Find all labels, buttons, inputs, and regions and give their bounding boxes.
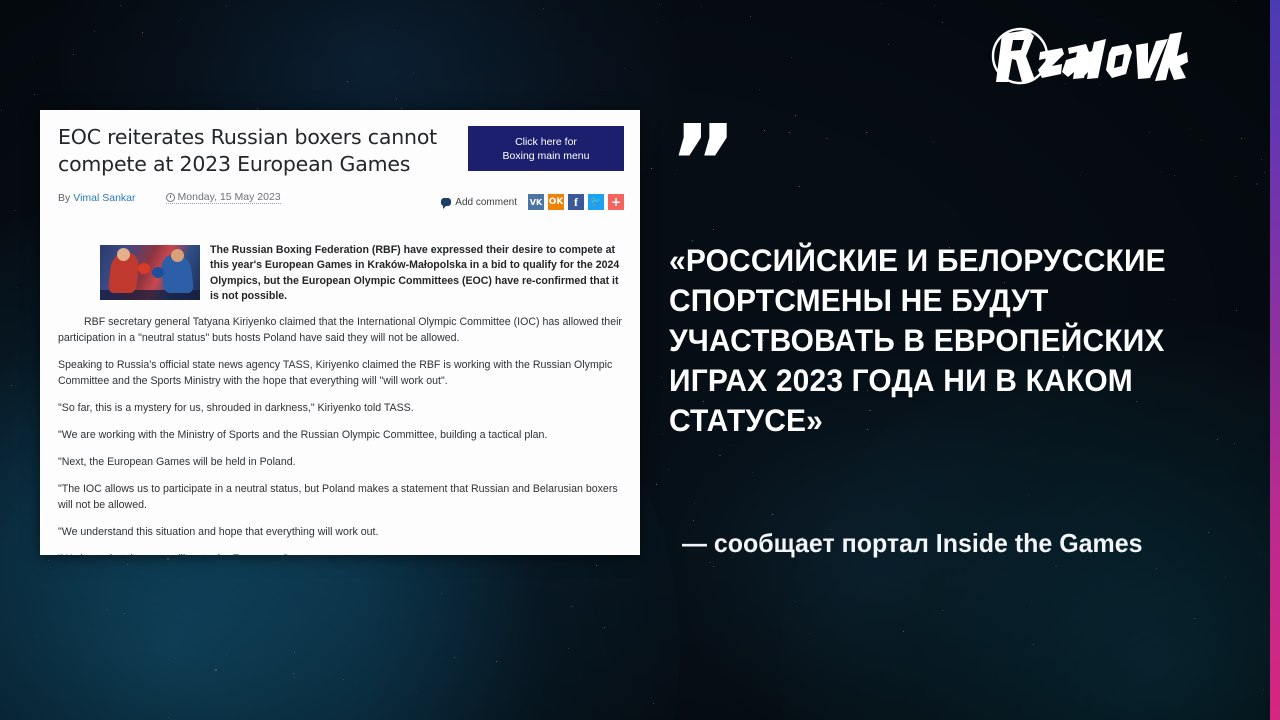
- share-row: Add comment VK OK f 🐦 +: [441, 194, 624, 210]
- share-twitter-icon[interactable]: 🐦: [588, 194, 604, 210]
- share-odnoklassniki-icon[interactable]: OK: [548, 194, 564, 210]
- boxing-main-menu-button[interactable]: Click here for Boxing main menu: [468, 126, 624, 171]
- article-paragraph-6: "The IOC allows us to participate in a n…: [58, 481, 624, 513]
- article-screenshot-card: EOC reiterates Russian boxers cannot com…: [40, 110, 640, 555]
- menu-box-line2: Boxing main menu: [503, 149, 590, 163]
- byline-prefix: By: [58, 192, 70, 204]
- article-headline: EOC reiterates Russian boxers cannot com…: [58, 124, 438, 178]
- right-edge-gradient-stripe: [1270, 0, 1280, 720]
- share-facebook-icon[interactable]: f: [568, 194, 584, 210]
- article-paragraph-5: "Next, the European Games will be held i…: [58, 454, 624, 470]
- byline-date-text: Monday, 15 May 2023: [178, 191, 281, 203]
- quote-attribution: — сообщает портал Inside the Games: [682, 527, 1205, 559]
- quote-column: ” «РОССИЙСКИЕ И БЕЛОРУССКИЕ СПОРТСМЕНЫ Н…: [664, 0, 1234, 720]
- article-paragraph-8: "We hope that the guys will go to the Eu…: [58, 551, 624, 555]
- article-paragraph-1: RBF secretary general Tatyana Kiriyenko …: [58, 314, 624, 346]
- share-more-icon[interactable]: +: [608, 194, 624, 210]
- readovka-logo: [988, 26, 1188, 88]
- quote-mark-icon: ”: [669, 132, 739, 194]
- byline-author-link[interactable]: Vimal Sankar: [73, 192, 135, 204]
- article-body: The Russian Boxing Federation (RBF) have…: [58, 243, 624, 555]
- article-paragraph-2: Speaking to Russia's official state news…: [58, 357, 624, 389]
- article-thumbnail-image: [100, 245, 200, 300]
- article-paragraph-4: "We are working with the Ministry of Spo…: [58, 427, 624, 443]
- comment-bubble-icon: [441, 198, 451, 206]
- clock-icon: [166, 193, 175, 202]
- readovka-logo-icon: [988, 26, 1188, 88]
- add-comment-label: Add comment: [455, 197, 517, 208]
- article-paragraph-3: "So far, this is a mystery for us, shrou…: [58, 400, 624, 416]
- byline-date: Monday, 15 May 2023: [166, 191, 281, 204]
- quote-text: «РОССИЙСКИЕ И БЕЛОРУССКИЕ СПОРТСМЕНЫ НЕ …: [669, 240, 1182, 440]
- add-comment-button[interactable]: Add comment: [441, 197, 517, 208]
- menu-box-line1: Click here for: [515, 135, 577, 149]
- article-paragraph-7: "We understand this situation and hope t…: [58, 524, 624, 540]
- share-vk-icon[interactable]: VK: [528, 194, 544, 210]
